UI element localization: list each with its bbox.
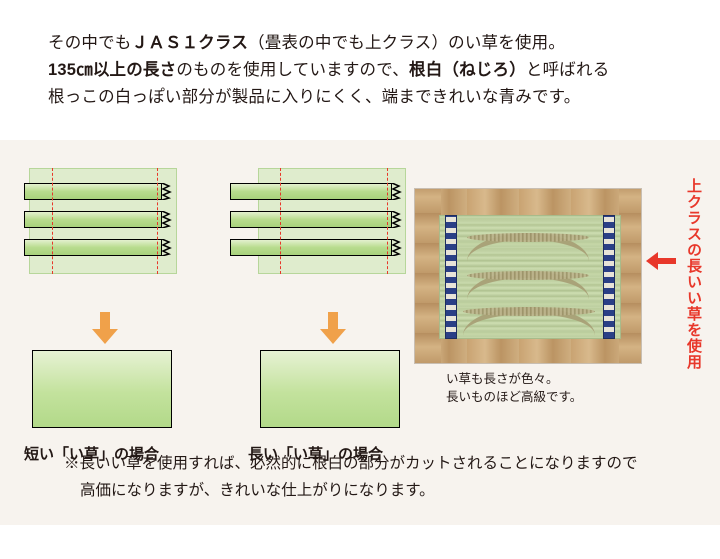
intro-line-2: 135㎝以上の長さのものを使用していますので、根白（ねじろ）と呼ばれる [48, 57, 688, 84]
short-igusa-strips [24, 180, 184, 265]
ragged-end-icon [162, 183, 176, 200]
cut-line-right [387, 168, 388, 274]
long-igusa-group: 長い「い草」の場合 [230, 180, 410, 265]
igusa-photo [414, 188, 642, 364]
ragged-end-icon [392, 239, 406, 256]
intro-line-1: その中でもＪＡＳ１クラス（畳表の中でも上クラス）のい草を使用。 [48, 30, 688, 57]
bottom-note: ※長いい草を使用すれば、必然的に根白の部分がカットされることになりますので 高価… [64, 450, 638, 504]
igusa-strip [230, 211, 392, 228]
photo-wood-floor-right [619, 189, 641, 363]
intro-line-1-emphasis: ＪＡＳ１クラス [132, 34, 249, 52]
illustration-panel: 短い「い草」の場合 [0, 140, 720, 525]
igusa-strip [24, 211, 162, 228]
intro-line-2-part-b: のものを使用していますので、 [176, 61, 409, 79]
short-result-tatami [32, 350, 172, 428]
igusa-strip [24, 239, 162, 256]
cut-line-right [157, 168, 158, 274]
down-arrow-icon [92, 312, 118, 344]
intro-paragraph: その中でもＪＡＳ１クラス（畳表の中でも上クラス）のい草を使用。 135㎝以上の長… [48, 30, 688, 111]
intro-line-1-part-c: （畳表の中でも上クラス）のい草を使用。 [248, 34, 565, 52]
intro-line-2-emphasis-nejiro: 根白（ねじろ） [409, 61, 526, 79]
bottom-note-line-2: 高価になりますが、きれいな仕上がりになります。 [64, 477, 638, 504]
ragged-end-icon [392, 211, 406, 228]
arrow-shaft [100, 312, 110, 330]
long-result-tatami [260, 350, 400, 428]
intro-line-3: 根っこの白っぽい部分が製品に入りにくく、端まできれいな青みです。 [48, 84, 688, 111]
photo-tatami-border-right [603, 215, 615, 339]
igusa-strip [24, 183, 162, 200]
ragged-end-icon [392, 183, 406, 200]
arrow-head [320, 329, 346, 344]
down-arrow-icon [320, 312, 346, 344]
photo-caption-line-2: 長いものほど高級です。 [446, 388, 582, 406]
intro-line-2-emphasis-length: 135㎝以上の長さ [48, 61, 176, 79]
igusa-strip [230, 239, 392, 256]
photo-igusa-bundle-texture [463, 307, 595, 316]
vertical-red-note: 上クラスの長いい草を使用 [682, 178, 704, 370]
photo-tatami-border-left [445, 215, 457, 339]
page-root: その中でもＪＡＳ１クラス（畳表の中でも上クラス）のい草を使用。 135㎝以上の長… [0, 0, 720, 559]
short-igusa-group: 短い「い草」の場合 [24, 180, 184, 265]
left-arrow-icon [646, 252, 676, 270]
long-igusa-strips [230, 180, 410, 265]
ragged-end-icon [162, 239, 176, 256]
photo-caption: い草も長さが色々。 長いものほど高級です。 [446, 370, 582, 406]
photo-wood-floor-left [415, 189, 441, 363]
igusa-strip [230, 183, 392, 200]
intro-line-2-part-d: と呼ばれる [526, 61, 610, 79]
arrow-shaft [328, 312, 338, 330]
arrow-head [646, 252, 658, 270]
arrow-shaft [656, 258, 676, 264]
photo-caption-line-1: い草も長さが色々。 [446, 370, 582, 388]
bottom-note-line-1: ※長いい草を使用すれば、必然的に根白の部分がカットされることになりますので [64, 450, 638, 477]
intro-line-1-part-a: その中でも [48, 34, 132, 52]
arrow-head [92, 329, 118, 344]
photo-igusa-bundle-texture [467, 233, 589, 242]
ragged-end-icon [162, 211, 176, 228]
cut-line-left [52, 168, 53, 274]
photo-igusa-bundle-texture [467, 271, 589, 280]
cut-line-left [280, 168, 281, 274]
